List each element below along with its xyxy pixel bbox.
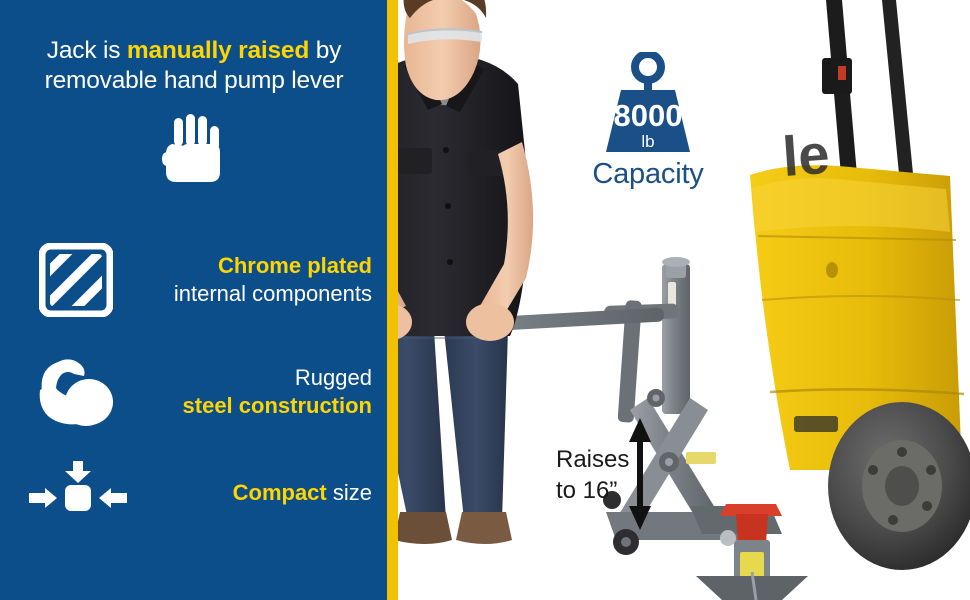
compress-arrows-icon (14, 459, 139, 527)
feature-rugged-steel: Rugged steel construction (30, 344, 378, 440)
feature-chrome-bold: Chrome plated (218, 253, 372, 278)
raises-line1: Raises (556, 446, 629, 473)
headline-highlight: manually raised (127, 37, 309, 64)
feature-compact-bold: Compact (233, 480, 327, 505)
capacity-badge: 8000 lb Capacity (568, 52, 728, 202)
worker-graphic (390, 0, 533, 544)
infographic-canvas: le (0, 0, 970, 600)
raises-height-text: Raises to 16” (556, 444, 632, 506)
feature-chrome-text: Chrome plated internal components (122, 252, 378, 308)
feature-rugged-normal: Rugged (295, 365, 372, 390)
forklift-graphic: le (750, 0, 970, 570)
headline-line2: removable hand pump lever (45, 67, 344, 94)
capacity-value: 8000 (614, 98, 683, 133)
capacity-unit: lb (641, 132, 654, 151)
feature-chrome-normal: internal components (174, 281, 372, 306)
feature-rugged-text: Rugged steel construction (122, 364, 378, 420)
raised-fist-icon (160, 112, 230, 184)
yellow-divider (387, 0, 398, 600)
capacity-label: Capacity (568, 158, 728, 191)
hatched-square-icon (30, 243, 122, 317)
svg-text:le: le (780, 122, 831, 188)
feature-compact-text: Compact size (139, 479, 378, 507)
feature-compact-size: Compact size (14, 458, 378, 528)
feature-compact-normal: size (327, 480, 372, 505)
flexed-bicep-icon (30, 358, 122, 426)
feature-chrome-plated: Chrome plated internal components (30, 232, 378, 328)
page-title: Jack is manually raised by removable han… (8, 36, 380, 96)
raises-line2: to 16” (556, 477, 617, 504)
headline-part1: Jack is (47, 37, 127, 64)
vertical-double-arrow-icon (628, 418, 652, 530)
headline-part2: by (309, 37, 341, 64)
feature-rugged-bold: steel construction (183, 393, 372, 418)
